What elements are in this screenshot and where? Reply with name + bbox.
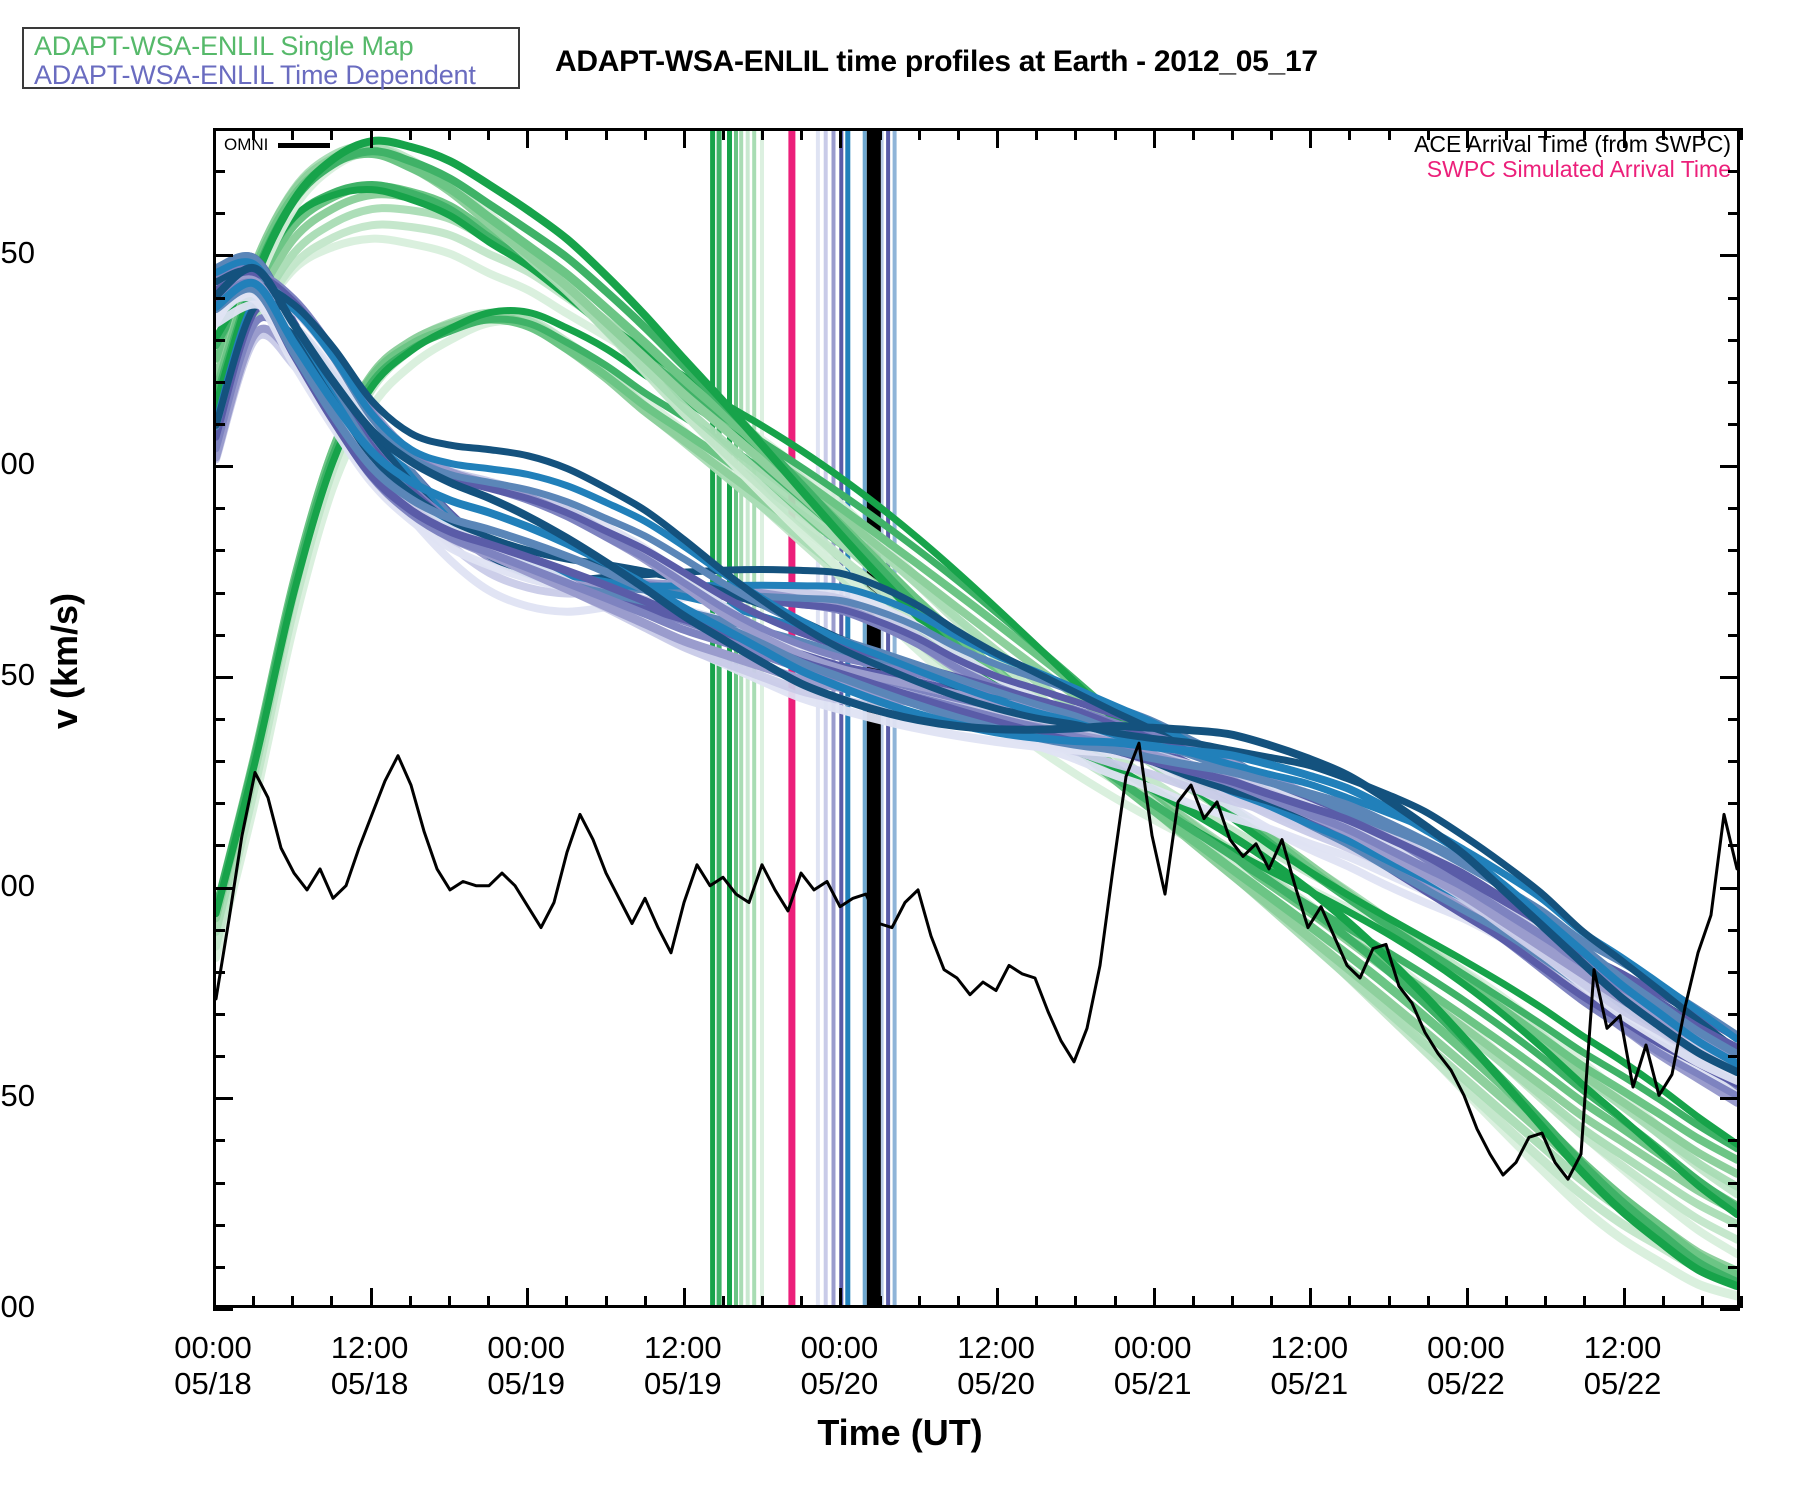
x-axis-tick	[1623, 1288, 1626, 1308]
x-axis-tick-top	[996, 128, 999, 148]
data-curves	[216, 141, 1737, 1296]
x-axis-tick-top	[1309, 128, 1312, 148]
x-tick-date: 05/22	[1523, 1366, 1723, 1402]
y-axis-tick	[213, 971, 225, 974]
y-axis-tick	[213, 1097, 233, 1100]
chart-page: ADAPT-WSA-ENLIL Single Map ADAPT-WSA-ENL…	[0, 0, 1800, 1500]
plot-canvas	[216, 131, 1737, 1305]
x-axis-tick	[957, 1296, 960, 1308]
x-axis-tick-top	[213, 128, 216, 148]
y-axis-tick	[213, 549, 225, 552]
x-axis-tick	[1231, 1296, 1234, 1308]
x-axis-tick-top	[1114, 128, 1117, 140]
series-legend-box: ADAPT-WSA-ENLIL Single Map ADAPT-WSA-ENL…	[22, 27, 520, 89]
x-axis-tick	[1662, 1296, 1665, 1308]
x-axis-tick	[761, 1296, 764, 1308]
x-axis-tick	[252, 1296, 255, 1308]
ace-arrival-label: ACE Arrival Time (from SWPC)	[1414, 132, 1731, 157]
y-tick-label: 350	[0, 1078, 35, 1114]
y-axis-tick	[213, 1139, 225, 1142]
x-axis-tick-top	[1740, 128, 1743, 140]
x-axis-tick-top	[605, 128, 608, 140]
y-tick-label: 300	[0, 1289, 35, 1325]
y-axis-tick	[213, 1266, 225, 1269]
x-axis-tick-top	[1466, 128, 1469, 148]
x-axis-tick	[1074, 1296, 1077, 1308]
x-axis-tick	[1388, 1296, 1391, 1308]
y-axis-tick	[213, 718, 225, 721]
y-axis-tick-right	[1728, 128, 1740, 131]
arrival-time-annotations: ACE Arrival Time (from SWPC) SWPC Simula…	[1414, 132, 1731, 182]
y-axis-tick-right	[1728, 760, 1740, 763]
y-axis-tick-right	[1728, 1055, 1740, 1058]
y-axis-tick-right	[1728, 549, 1740, 552]
x-axis-tick-top	[448, 128, 451, 140]
x-axis-tick	[1505, 1296, 1508, 1308]
x-axis-tick	[1035, 1296, 1038, 1308]
x-axis-tick	[839, 1288, 842, 1308]
x-axis-tick-top	[1544, 128, 1547, 140]
x-axis-tick	[487, 1296, 490, 1308]
y-axis-tick	[213, 676, 233, 679]
x-axis-tick-top	[526, 128, 529, 148]
y-axis-tick-right	[1720, 676, 1740, 679]
x-axis-tick	[1544, 1296, 1547, 1308]
x-axis-tick-top	[1388, 128, 1391, 140]
x-axis-tick-top	[1153, 128, 1156, 148]
x-axis-tick-top	[487, 128, 490, 140]
x-axis-tick-top	[1348, 128, 1351, 140]
x-axis-tick	[1466, 1288, 1469, 1308]
x-axis-tick	[879, 1296, 882, 1308]
x-axis-tick-top	[1427, 128, 1430, 140]
y-tick-label: 450	[0, 657, 35, 693]
y-axis-tick-right	[1728, 423, 1740, 426]
y-axis-tick-right	[1728, 718, 1740, 721]
y-axis-tick-right	[1728, 1139, 1740, 1142]
y-axis-tick-right	[1720, 1097, 1740, 1100]
x-axis-label: Time (UT)	[700, 1412, 1100, 1454]
y-axis-tick	[213, 297, 225, 300]
x-axis-tick-top	[252, 128, 255, 140]
y-axis-label: v (km/s)	[44, 551, 86, 771]
x-axis-tick	[1153, 1288, 1156, 1308]
x-axis-tick	[605, 1296, 608, 1308]
y-axis-tick	[213, 1055, 225, 1058]
x-axis-tick-top	[330, 128, 333, 140]
x-axis-tick-top	[1270, 128, 1273, 140]
y-axis-tick	[213, 507, 225, 510]
x-axis-tick-top	[370, 128, 373, 148]
chart-title: ADAPT-WSA-ENLIL time profiles at Earth -…	[555, 45, 1455, 79]
y-axis-tick-right	[1728, 507, 1740, 510]
x-axis-tick-top	[1192, 128, 1195, 140]
omni-label: OMNI	[224, 135, 268, 155]
y-axis-tick-right	[1728, 381, 1740, 384]
y-axis-tick-right	[1720, 254, 1740, 257]
omni-legend: OMNI	[224, 135, 330, 155]
y-axis-tick-right	[1728, 929, 1740, 932]
x-axis-tick	[918, 1296, 921, 1308]
x-axis-tick	[644, 1296, 647, 1308]
x-axis-tick-top	[1662, 128, 1665, 140]
y-axis-tick	[213, 254, 233, 257]
x-axis-tick	[1270, 1296, 1273, 1308]
x-axis-tick	[800, 1296, 803, 1308]
x-axis-tick-top	[683, 128, 686, 148]
x-axis-tick	[1192, 1296, 1195, 1308]
x-axis-tick-top	[1701, 128, 1704, 140]
y-axis-tick	[213, 339, 225, 342]
y-axis-tick	[213, 212, 225, 215]
x-axis-tick	[1427, 1296, 1430, 1308]
x-axis-tick-top	[879, 128, 882, 140]
x-axis-tick	[213, 1288, 216, 1308]
y-axis-tick	[213, 634, 225, 637]
x-tick-time: 12:00	[1523, 1330, 1723, 1366]
x-axis-tick-top	[1074, 128, 1077, 140]
y-axis-tick-right	[1728, 1266, 1740, 1269]
x-axis-tick-top	[1583, 128, 1586, 140]
x-axis-tick	[722, 1296, 725, 1308]
y-axis-tick	[213, 1308, 233, 1311]
y-tick-label: 550	[0, 235, 35, 271]
y-axis-tick-right	[1728, 1224, 1740, 1227]
y-axis-tick-right	[1728, 212, 1740, 215]
y-axis-tick-right	[1720, 1308, 1740, 1311]
y-axis-tick	[213, 760, 225, 763]
x-tick-label: 12:0005/22	[1523, 1330, 1723, 1402]
x-axis-tick	[565, 1296, 568, 1308]
x-axis-tick-top	[565, 128, 568, 140]
y-axis-tick	[213, 802, 225, 805]
y-axis-tick	[213, 381, 225, 384]
y-tick-label: 500	[0, 446, 35, 482]
y-axis-tick	[213, 128, 225, 131]
x-axis-tick	[370, 1288, 373, 1308]
y-axis-tick	[213, 170, 225, 173]
x-axis-tick	[330, 1296, 333, 1308]
y-axis-tick	[213, 592, 225, 595]
x-axis-tick	[996, 1288, 999, 1308]
x-axis-tick	[291, 1296, 294, 1308]
x-axis-tick-top	[1623, 128, 1626, 148]
y-axis-tick	[213, 1224, 225, 1227]
x-axis-tick-top	[644, 128, 647, 140]
y-axis-tick-right	[1720, 465, 1740, 468]
y-axis-tick-right	[1728, 844, 1740, 847]
x-axis-tick-top	[839, 128, 842, 148]
y-axis-tick	[213, 465, 233, 468]
y-axis-tick	[213, 887, 233, 890]
x-axis-tick	[1309, 1288, 1312, 1308]
x-axis-tick	[1348, 1296, 1351, 1308]
legend-entry-single-map: ADAPT-WSA-ENLIL Single Map	[34, 32, 518, 61]
y-axis-tick-right	[1728, 1013, 1740, 1016]
y-axis-tick-right	[1728, 634, 1740, 637]
y-axis-tick	[213, 1013, 225, 1016]
x-axis-tick-top	[1231, 128, 1234, 140]
x-axis-tick-top	[761, 128, 764, 140]
x-axis-tick	[1583, 1296, 1586, 1308]
x-axis-tick-top	[800, 128, 803, 140]
x-axis-tick-top	[918, 128, 921, 140]
y-axis-tick	[213, 929, 225, 932]
y-axis-tick	[213, 423, 225, 426]
plot-area: OMNI ACE Arrival Time (from SWPC) SWPC S…	[213, 128, 1740, 1308]
legend-entry-time-dependent: ADAPT-WSA-ENLIL Time Dependent	[34, 61, 518, 90]
y-axis-tick-right	[1728, 592, 1740, 595]
y-axis-tick	[213, 844, 225, 847]
y-axis-tick-right	[1728, 802, 1740, 805]
y-axis-tick-right	[1728, 297, 1740, 300]
x-axis-tick-top	[409, 128, 412, 140]
x-axis-tick-top	[957, 128, 960, 140]
x-axis-tick-top	[1035, 128, 1038, 140]
y-axis-tick-right	[1728, 1182, 1740, 1185]
y-axis-tick-right	[1728, 971, 1740, 974]
data-curve	[216, 316, 1737, 1212]
y-tick-label: 400	[0, 868, 35, 904]
x-axis-tick-top	[291, 128, 294, 140]
omni-line-swatch	[278, 143, 330, 148]
x-axis-tick	[1701, 1296, 1704, 1308]
x-axis-tick	[1114, 1296, 1117, 1308]
swpc-arrival-label: SWPC Simulated Arrival Time	[1414, 157, 1731, 182]
x-axis-tick	[448, 1296, 451, 1308]
x-axis-tick	[1740, 1296, 1743, 1308]
y-axis-tick-right	[1728, 170, 1740, 173]
y-axis-tick	[213, 1182, 225, 1185]
x-axis-tick	[526, 1288, 529, 1308]
x-axis-tick	[683, 1288, 686, 1308]
x-axis-tick	[409, 1296, 412, 1308]
x-axis-tick-top	[1505, 128, 1508, 140]
y-axis-tick-right	[1728, 339, 1740, 342]
y-axis-tick-right	[1720, 887, 1740, 890]
x-axis-tick-top	[722, 128, 725, 140]
